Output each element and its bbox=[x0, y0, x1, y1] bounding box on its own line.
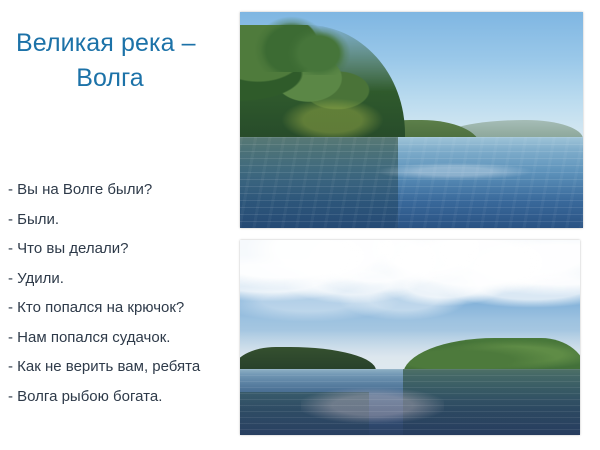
poem-line: - Нам попался судачок. bbox=[4, 323, 244, 353]
poem-line: - Что вы делали? bbox=[4, 234, 244, 264]
volga-river-forest-bank-photo bbox=[240, 12, 583, 228]
page-title-line-1: Великая река – bbox=[8, 26, 230, 61]
page-title-line-2: Волга bbox=[8, 61, 230, 96]
pine-crown-secondary bbox=[288, 27, 350, 75]
water-ripples bbox=[240, 369, 580, 435]
water-glint bbox=[377, 163, 531, 180]
poem-line: - Волга рыбою богата. bbox=[4, 382, 244, 412]
poem-line: - Вы на Волге были? bbox=[4, 175, 244, 205]
poem-line: - Кто попался на крючок? bbox=[4, 293, 244, 323]
volga-river-clouds-photo bbox=[240, 240, 580, 435]
poem-line: - Были. bbox=[4, 205, 244, 235]
water-ripples bbox=[240, 137, 583, 228]
poem-line: - Как не верить вам, ребята bbox=[4, 352, 244, 382]
presentation-slide: Великая река – Волга - Вы на Волге были?… bbox=[0, 0, 600, 450]
page-title: Великая река – Волга bbox=[8, 26, 230, 96]
poem-text-block: - Вы на Волге были? - Были. - Что вы дел… bbox=[4, 175, 244, 411]
photo-content bbox=[240, 240, 580, 435]
poem-line: - Удили. bbox=[4, 264, 244, 294]
photo-content bbox=[240, 12, 583, 228]
sunlit-foliage bbox=[281, 98, 384, 141]
